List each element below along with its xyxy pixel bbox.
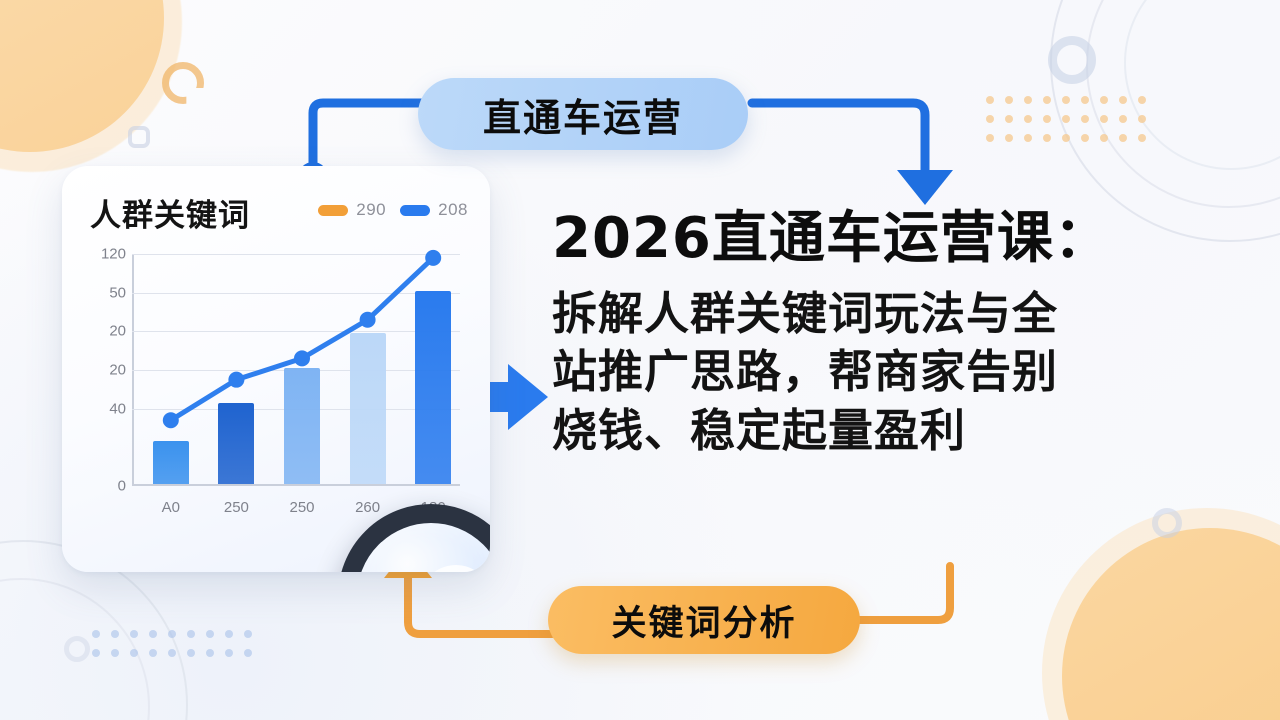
arc-ring-icon	[1124, 0, 1280, 170]
dot	[168, 630, 176, 638]
y-axis-tick-label: 0	[118, 478, 126, 495]
orange-blob-bottom-right	[1062, 528, 1280, 720]
x-axis-tick-label: 250	[224, 499, 249, 516]
y-axis-tick-label: 20	[109, 323, 126, 340]
legend-swatch-blue	[400, 205, 430, 216]
dot	[1119, 96, 1127, 104]
dot	[1081, 115, 1089, 123]
y-axis-tick-label: 50	[109, 284, 126, 301]
chart-legend: 290 208	[318, 200, 468, 220]
connector-line-orange-right	[858, 566, 950, 620]
dot	[1081, 134, 1089, 142]
poster-canvas: 人群关键词 290 208 120502020400A0250250260180	[0, 0, 1280, 720]
legend-label-blue: 208	[438, 200, 468, 220]
dot	[244, 630, 252, 638]
dot	[1138, 96, 1146, 104]
tag-pill-bottom[interactable]: 关键词分析	[548, 586, 860, 654]
dot	[149, 630, 157, 638]
circle-outline-icon	[64, 636, 90, 662]
chart-line	[171, 258, 433, 420]
dot	[1100, 134, 1108, 142]
dot	[986, 134, 994, 142]
dot	[1043, 134, 1051, 142]
magnifier-icon	[330, 498, 490, 572]
connector-line-blue-left	[313, 103, 424, 172]
body-line-3: 烧钱、稳定起量盈利	[552, 402, 1252, 461]
dot	[130, 630, 138, 638]
dot	[225, 649, 233, 657]
dot	[187, 630, 195, 638]
chart-title: 人群关键词	[90, 190, 250, 235]
dot	[1138, 134, 1146, 142]
dot	[1024, 115, 1032, 123]
dot	[1062, 115, 1070, 123]
dot	[1024, 96, 1032, 104]
chart-data-point	[294, 350, 310, 366]
y-axis-tick-label: 20	[109, 362, 126, 379]
chart-plot-area: 120502020400A0250250260180	[92, 254, 464, 524]
dot-grid-bottom-left	[92, 630, 252, 657]
legend-item-line: 290	[318, 200, 386, 220]
dot	[130, 649, 138, 657]
dot	[1062, 96, 1070, 104]
dot	[1138, 115, 1146, 123]
dot	[1024, 134, 1032, 142]
dot	[1100, 115, 1108, 123]
dot	[986, 96, 994, 104]
bean-shape-icon	[162, 62, 204, 104]
dot	[92, 630, 100, 638]
dot	[225, 630, 233, 638]
legend-swatch-orange	[318, 205, 348, 216]
tag-pill-top[interactable]: 直通车运营	[418, 78, 748, 150]
chart-data-point	[228, 372, 244, 388]
dot	[244, 649, 252, 657]
dot	[1100, 96, 1108, 104]
donut-icon	[1048, 36, 1096, 84]
arrow-down-icon	[897, 170, 953, 205]
dot	[986, 115, 994, 123]
dot	[1005, 96, 1013, 104]
dot	[206, 649, 214, 657]
dot	[149, 649, 157, 657]
x-axis-tick-label: 250	[289, 499, 314, 516]
rounded-square-icon	[128, 126, 150, 148]
chart-axes: 120502020400A0250250260180	[132, 254, 460, 486]
y-axis-tick-label: 40	[109, 400, 126, 417]
dot	[1043, 115, 1051, 123]
dot	[111, 649, 119, 657]
dot	[1005, 134, 1013, 142]
chart-card: 人群关键词 290 208 120502020400A0250250260180	[62, 166, 490, 572]
headline: 2026直通车运营课：	[552, 208, 1252, 271]
chart-data-point	[163, 412, 179, 428]
dot	[168, 649, 176, 657]
connector-line-blue-right	[752, 103, 925, 171]
orange-blob-ring-top-left	[0, 0, 182, 172]
legend-label-orange: 290	[356, 200, 386, 220]
body-line-1: 拆解人群关键词玩法与全	[552, 285, 1252, 344]
chart-data-point	[425, 250, 441, 266]
body-line-2: 站推广思路，帮商家告别	[552, 343, 1252, 402]
dot	[206, 630, 214, 638]
orange-blob-ring-bottom-right	[1042, 508, 1280, 720]
dot	[1119, 134, 1127, 142]
dot	[1005, 115, 1013, 123]
poster-copy: 2026直通车运营课： 拆解人群关键词玩法与全站推广思路，帮商家告别烧钱、稳定起…	[552, 208, 1252, 460]
dot	[92, 649, 100, 657]
y-axis-tick-label: 120	[101, 246, 126, 263]
body-copy: 拆解人群关键词玩法与全站推广思路，帮商家告别烧钱、稳定起量盈利	[552, 285, 1252, 461]
dot	[1043, 96, 1051, 104]
dot	[1081, 96, 1089, 104]
magnifier-lens	[338, 504, 490, 572]
dot	[111, 630, 119, 638]
legend-item-bar: 208	[400, 200, 468, 220]
dot-grid-top-right	[986, 96, 1146, 142]
chart-data-point	[360, 312, 376, 328]
magnifier-glint	[407, 553, 490, 572]
x-axis-tick-label: A0	[162, 499, 180, 516]
donut-icon	[1152, 508, 1182, 538]
dot	[1119, 115, 1127, 123]
dot	[187, 649, 195, 657]
dot	[1062, 134, 1070, 142]
connector-line-orange-left	[408, 578, 552, 634]
chart-line-series	[132, 254, 460, 486]
